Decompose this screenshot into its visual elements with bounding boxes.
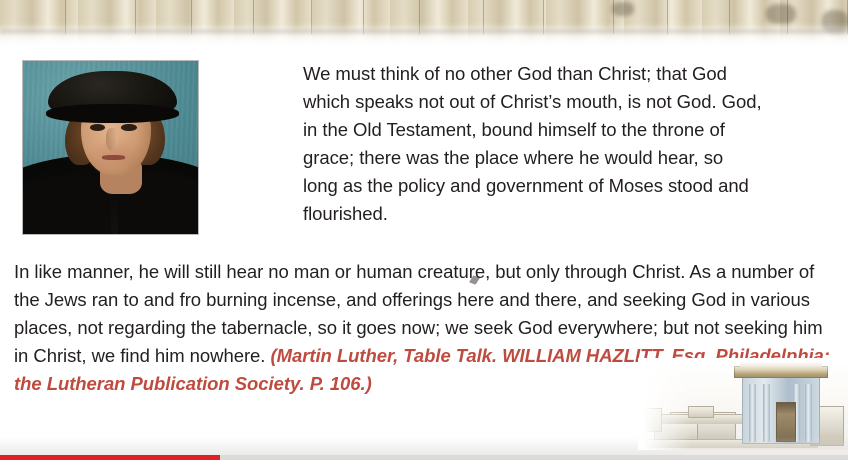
temple-column [763,384,770,442]
stone-wall-fade [0,22,848,52]
video-progress-bar[interactable] [0,455,848,460]
temple-doorway [776,402,796,442]
martin-luther-portrait [22,60,199,235]
second-temple-model-photo [638,358,848,450]
portrait-shoulder-left [22,175,111,235]
portrait-beret-brim [46,104,179,123]
stone-wall-photo [0,0,848,52]
video-progress-fill [0,455,220,460]
temple-column [805,384,812,442]
quote-paragraph-one: We must think of no other God than Chris… [303,60,763,228]
temple-column [749,384,756,442]
portrait-chin [93,161,133,177]
temple-photo-top-fade [638,358,848,374]
stone-weathering-mark [612,2,634,16]
stone-weathering-mark [766,4,796,24]
portrait-mouth [102,155,125,159]
presentation-slide: We must think of no other God than Chris… [0,0,848,460]
